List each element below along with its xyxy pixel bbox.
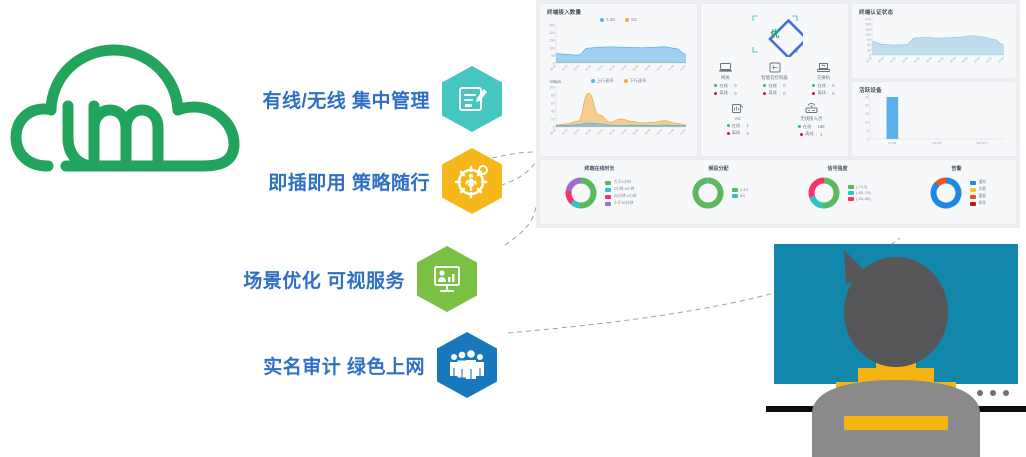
legend-swatch — [605, 188, 611, 192]
svg-text:(0,25]: (0,25] — [888, 141, 896, 145]
legend-label: 重要 — [978, 194, 986, 199]
svg-text:120: 120 — [865, 33, 871, 37]
people-group-icon — [437, 332, 497, 398]
svg-text:0: 0 — [867, 137, 869, 141]
donut-card-1: 频段分配 2.4G5G — [659, 160, 778, 224]
svg-text:16:00: 16:00 — [549, 64, 557, 72]
legend-item: 上行速率 — [591, 78, 614, 84]
legend-label: 2.4G — [740, 188, 748, 192]
svg-text:210: 210 — [865, 18, 871, 22]
device-status-grid: 网关 在线: 0 离线: 0 智能云控制器 在线: 0 离线: 0 — [701, 60, 848, 142]
panel-network-health: 优 网关 在线: 0 离线: 0 智能云控 — [701, 4, 848, 156]
feature-hex[interactable] — [442, 148, 502, 214]
svg-text:80: 80 — [551, 94, 555, 98]
device-offline: 离线: 0 — [701, 90, 750, 96]
switch-icon — [799, 60, 848, 74]
legend-label: 次要 — [978, 187, 986, 192]
svg-text:12:00: 12:00 — [667, 128, 675, 136]
donut-legend: (-70,0](-85,-70](-95,-85] — [848, 185, 871, 201]
legend-label: 2小时-6小时 — [614, 187, 635, 192]
donut-legend-item: (-95,-85] — [848, 197, 871, 201]
feature-hex[interactable] — [437, 332, 497, 398]
svg-text:06:00: 06:00 — [632, 64, 640, 72]
panel-auth-status: 终端认证状态 030609012015018021016:0018:0020:0… — [852, 4, 1016, 78]
svg-text:100: 100 — [549, 86, 555, 90]
device-card-ac[interactable]: AC 在线: 1 离线: 0 — [701, 101, 775, 137]
legend-swatch — [848, 185, 854, 189]
legend-label: (-85,-70] — [856, 191, 870, 195]
donut-legend: 大于6小时2小时-6小时30分钟-2小时小于30分钟 — [605, 180, 636, 206]
device-name: 智能云控制器 — [750, 75, 799, 81]
svg-text:14:00: 14:00 — [997, 56, 1005, 64]
feature-label: 有线/无线 集中管理 — [240, 86, 430, 113]
svg-text:(50,127]: (50,127] — [976, 141, 987, 145]
device-card-switch[interactable]: 交换机 在线: 0 离线: 0 — [799, 60, 848, 96]
svg-text:250: 250 — [549, 24, 555, 28]
svg-text:10:00: 10:00 — [655, 128, 663, 136]
screen-dots — [977, 390, 1009, 396]
svg-text:25: 25 — [865, 95, 869, 99]
svg-text:20:00: 20:00 — [889, 56, 897, 64]
legend-swatch — [605, 195, 611, 199]
svg-text:12:00: 12:00 — [667, 64, 675, 72]
donut-chart-signal — [805, 174, 843, 212]
donut-legend: 通知次要重要紧急 — [970, 180, 986, 206]
legend-label: 通知 — [978, 180, 986, 185]
rate-chart: 02040608010016:0018:0020:0022:0000:0002:… — [540, 84, 697, 146]
panel-donut-row: 终端在线时长 大于6小时2小时-6小时30分钟-2小时小于30分钟 频段分配 2… — [540, 160, 1016, 224]
svg-text:20:00: 20:00 — [573, 64, 581, 72]
device-offline: 离线: 1 — [775, 131, 849, 137]
donut-card-3: 告警 通知次要重要紧急 — [897, 160, 1016, 224]
svg-text:04:00: 04:00 — [620, 128, 628, 136]
svg-text:02:00: 02:00 — [608, 128, 616, 136]
svg-text:16:00: 16:00 — [865, 56, 873, 64]
legend-label: 紧急 — [978, 201, 986, 206]
svg-text:04:00: 04:00 — [620, 64, 628, 72]
legend-swatch — [848, 191, 854, 195]
auth-status-chart: 030609012015018021016:0018:0020:0022:000… — [852, 16, 1016, 78]
svg-text:90: 90 — [867, 38, 871, 42]
legend-swatch — [732, 188, 738, 192]
svg-text:优: 优 — [770, 28, 779, 39]
svg-text:40: 40 — [551, 110, 555, 114]
health-score: 优 — [701, 10, 848, 58]
donut-title: 频段分配 — [708, 165, 728, 172]
device-online: 在线: 188 — [775, 124, 849, 130]
legend-swatch — [732, 194, 738, 198]
svg-text:60: 60 — [867, 43, 871, 47]
feature-item-3[interactable]: 实名审计 绿色上网 — [235, 332, 497, 398]
svg-text:10:00: 10:00 — [655, 64, 663, 72]
panel-active-devices: 活跃设备 0510152025(0,25](25,50](50,127] — [852, 82, 1016, 156]
ac-controller-icon — [701, 101, 775, 115]
svg-text:08:00: 08:00 — [961, 56, 969, 64]
legend-swatch — [848, 197, 854, 201]
svg-text:(25,50]: (25,50] — [932, 141, 942, 145]
presentation-chart-icon — [417, 246, 477, 312]
device-card-cloud-controller[interactable]: 智能云控制器 在线: 0 离线: 0 — [750, 60, 799, 96]
feature-hex[interactable] — [442, 66, 502, 132]
donut-legend-item: 通知 — [970, 180, 986, 185]
feature-item-1[interactable]: 即插即用 策略随行 — [240, 148, 502, 214]
donut-card-0: 终端在线时长 大于6小时2小时-6小时30分钟-2小时小于30分钟 — [540, 160, 659, 224]
donut-legend-item: 紧急 — [970, 201, 986, 206]
clm-cloud-logo — [8, 18, 252, 200]
svg-text:00:00: 00:00 — [596, 64, 604, 72]
donut-legend: 2.4G5G — [732, 188, 749, 198]
legend-label: 30分钟-2小时 — [614, 194, 637, 199]
legend-swatch — [970, 202, 976, 206]
svg-text:180: 180 — [865, 23, 871, 27]
svg-text:22:00: 22:00 — [901, 56, 909, 64]
svg-text:14:00: 14:00 — [679, 64, 687, 72]
donut-chart-alarm — [927, 174, 965, 212]
svg-text:14:00: 14:00 — [679, 128, 687, 136]
dashboard: 终端接入数量 2.4G 5G 05010015020025016:0018:00… — [536, 0, 1020, 228]
svg-text:18:00: 18:00 — [561, 128, 569, 136]
device-name: 网关 — [701, 75, 750, 81]
donut-title: 告警 — [951, 165, 961, 172]
device-offline: 离线: 0 — [750, 90, 799, 96]
device-card-wireless-ap[interactable]: 无线接入点 在线: 188 离线: 1 — [775, 101, 849, 137]
legend-swatch — [970, 181, 976, 185]
donut-legend-item: 2.4G — [732, 188, 749, 192]
legend-swatch — [605, 181, 611, 185]
legend-label: (-95,-85] — [856, 197, 870, 201]
svg-text:50: 50 — [551, 54, 555, 58]
badge — [844, 416, 948, 430]
svg-text:02:00: 02:00 — [608, 64, 616, 72]
device-card-gateway[interactable]: 网关 在线: 0 离线: 0 — [701, 60, 750, 96]
donut-legend-item: 重要 — [970, 194, 986, 199]
device-online: 在线: 0 — [750, 83, 799, 89]
donut-card-2: 信号强度 (-70,0](-85,-70](-95,-85] — [778, 160, 897, 224]
donut-legend-item: 小于30分钟 — [605, 201, 636, 206]
panel-title: 终端认证状态 — [852, 4, 1016, 16]
svg-text:20: 20 — [551, 118, 555, 122]
svg-text:60: 60 — [551, 102, 555, 106]
svg-text:15: 15 — [865, 112, 869, 116]
svg-text:06:00: 06:00 — [632, 128, 640, 136]
svg-text:08:00: 08:00 — [643, 128, 651, 136]
device-offline: 离线: 0 — [701, 130, 775, 136]
legend-label: 5G — [740, 194, 745, 198]
wireless-ap-icon — [775, 101, 849, 115]
svg-text:5: 5 — [867, 129, 869, 133]
svg-text:08:00: 08:00 — [643, 64, 651, 72]
device-online: 在线: 0 — [701, 83, 750, 89]
svg-text:20: 20 — [865, 104, 869, 108]
svg-text:10: 10 — [865, 121, 869, 125]
donut-title: 终端在线时长 — [584, 165, 614, 172]
svg-text:22:00: 22:00 — [584, 64, 592, 72]
terminal-access-chart: 05010015020025016:0018:0020:0022:0000:00… — [540, 22, 697, 80]
legend-swatch — [970, 188, 976, 192]
svg-text:02:00: 02:00 — [925, 56, 933, 64]
svg-text:200: 200 — [549, 31, 555, 35]
panel-title: 终端接入数量 — [540, 4, 697, 16]
donut-chart-band — [689, 174, 727, 212]
donut-legend-item: 30分钟-2小时 — [605, 194, 636, 199]
gateway-icon — [701, 60, 750, 74]
svg-text:30: 30 — [867, 48, 871, 52]
panel-terminal-access: 终端接入数量 2.4G 5G 05010015020025016:0018:00… — [540, 4, 697, 156]
feature-hex[interactable] — [417, 246, 477, 312]
svg-text:00:00: 00:00 — [596, 128, 604, 136]
feature-label: 即插即用 策略随行 — [240, 168, 430, 195]
svg-text:16:00: 16:00 — [549, 128, 557, 136]
donut-row: 终端在线时长 大于6小时2小时-6小时30分钟-2小时小于30分钟 频段分配 2… — [540, 160, 1016, 224]
svg-text:20:00: 20:00 — [573, 128, 581, 136]
legend-label: 小于30分钟 — [614, 201, 633, 206]
legend-label: (-70,0] — [856, 185, 867, 189]
device-online: 在线: 1 — [701, 123, 775, 129]
legend-swatch — [605, 202, 611, 206]
donut-legend-item: 5G — [732, 194, 749, 198]
donut-legend-item: 次要 — [970, 187, 986, 192]
donut-legend-item: (-70,0] — [848, 185, 871, 189]
device-name: AC — [701, 116, 775, 121]
svg-text:150: 150 — [549, 39, 555, 43]
panel-title: 活跃设备 — [852, 82, 1016, 94]
svg-text:100: 100 — [549, 46, 555, 50]
device-name: 无线接入点 — [775, 116, 849, 122]
feature-label: 实名审计 绿色上网 — [235, 352, 425, 379]
donut-legend-item: 大于6小时 — [605, 180, 636, 185]
svg-text:150: 150 — [865, 28, 871, 32]
svg-text:18:00: 18:00 — [877, 56, 885, 64]
page-root: 有线/无线 集中管理 即插即用 策略随行 — [0, 0, 1026, 457]
donut-title: 信号强度 — [827, 165, 847, 172]
feature-item-2[interactable]: 场景优化 可视服务 — [215, 246, 477, 312]
legend-item: 5G — [625, 17, 637, 22]
svg-text:00:00: 00:00 — [913, 56, 921, 64]
feature-item-0[interactable]: 有线/无线 集中管理 — [240, 66, 502, 132]
cloud-controller-icon — [750, 60, 799, 74]
legend-label: 大于6小时 — [614, 180, 631, 185]
document-pencil-icon — [442, 66, 502, 132]
svg-text:04:00: 04:00 — [937, 56, 945, 64]
donut-chart-online-duration — [562, 174, 600, 212]
legend-swatch — [970, 195, 976, 199]
device-online: 在线: 0 — [799, 83, 848, 89]
legend-item: 2.4G — [600, 17, 615, 22]
svg-text:22:00: 22:00 — [584, 128, 592, 136]
donut-legend-item: (-85,-70] — [848, 191, 871, 195]
device-name: 交换机 — [799, 75, 848, 81]
svg-text:06:00: 06:00 — [949, 56, 957, 64]
donut-legend-item: 2小时-6小时 — [605, 187, 636, 192]
device-offline: 离线: 0 — [799, 90, 848, 96]
active-devices-chart: 0510152025(0,25](25,50](50,127] — [852, 94, 1016, 156]
legend-item: 下行速率 — [624, 78, 647, 84]
gear-person-icon — [442, 148, 502, 214]
feature-label: 场景优化 可视服务 — [215, 266, 405, 293]
svg-text:12:00: 12:00 — [985, 56, 993, 64]
person-at-monitor-illustration — [766, 238, 1026, 457]
svg-text:10:00: 10:00 — [973, 56, 981, 64]
svg-text:18:00: 18:00 — [561, 64, 569, 72]
